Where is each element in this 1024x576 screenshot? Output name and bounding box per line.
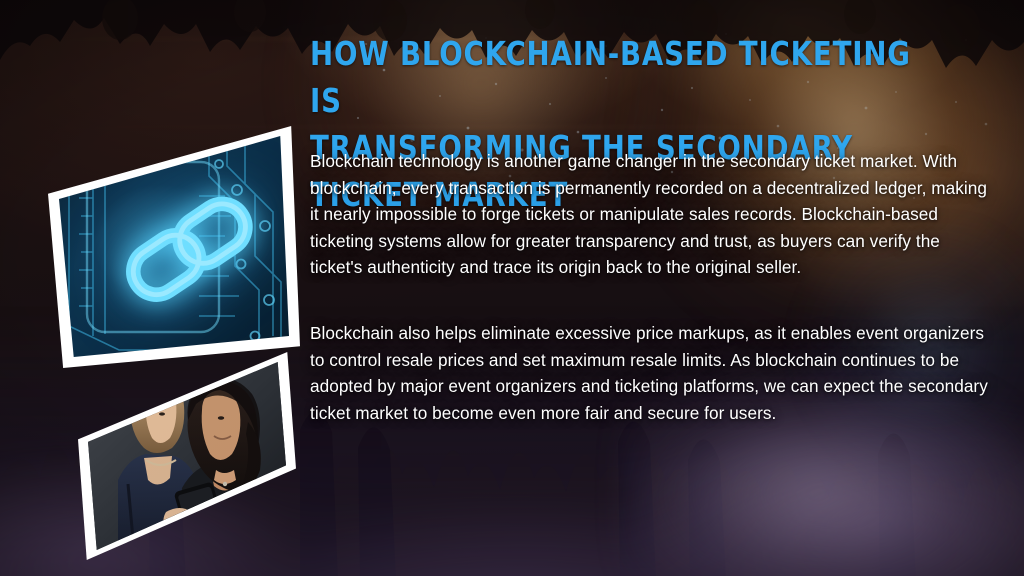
chain-link-icon [119, 174, 264, 324]
text-column: HOW BLOCKCHAIN-BASED TICKETING IS TRANSF… [310, 0, 1000, 576]
body-paragraph-1: Blockchain technology is another game ch… [310, 148, 994, 281]
body-paragraph-2: Blockchain also helps eliminate excessiv… [310, 320, 994, 426]
slide: HOW BLOCKCHAIN-BASED TICKETING IS TRANSF… [0, 0, 1024, 576]
